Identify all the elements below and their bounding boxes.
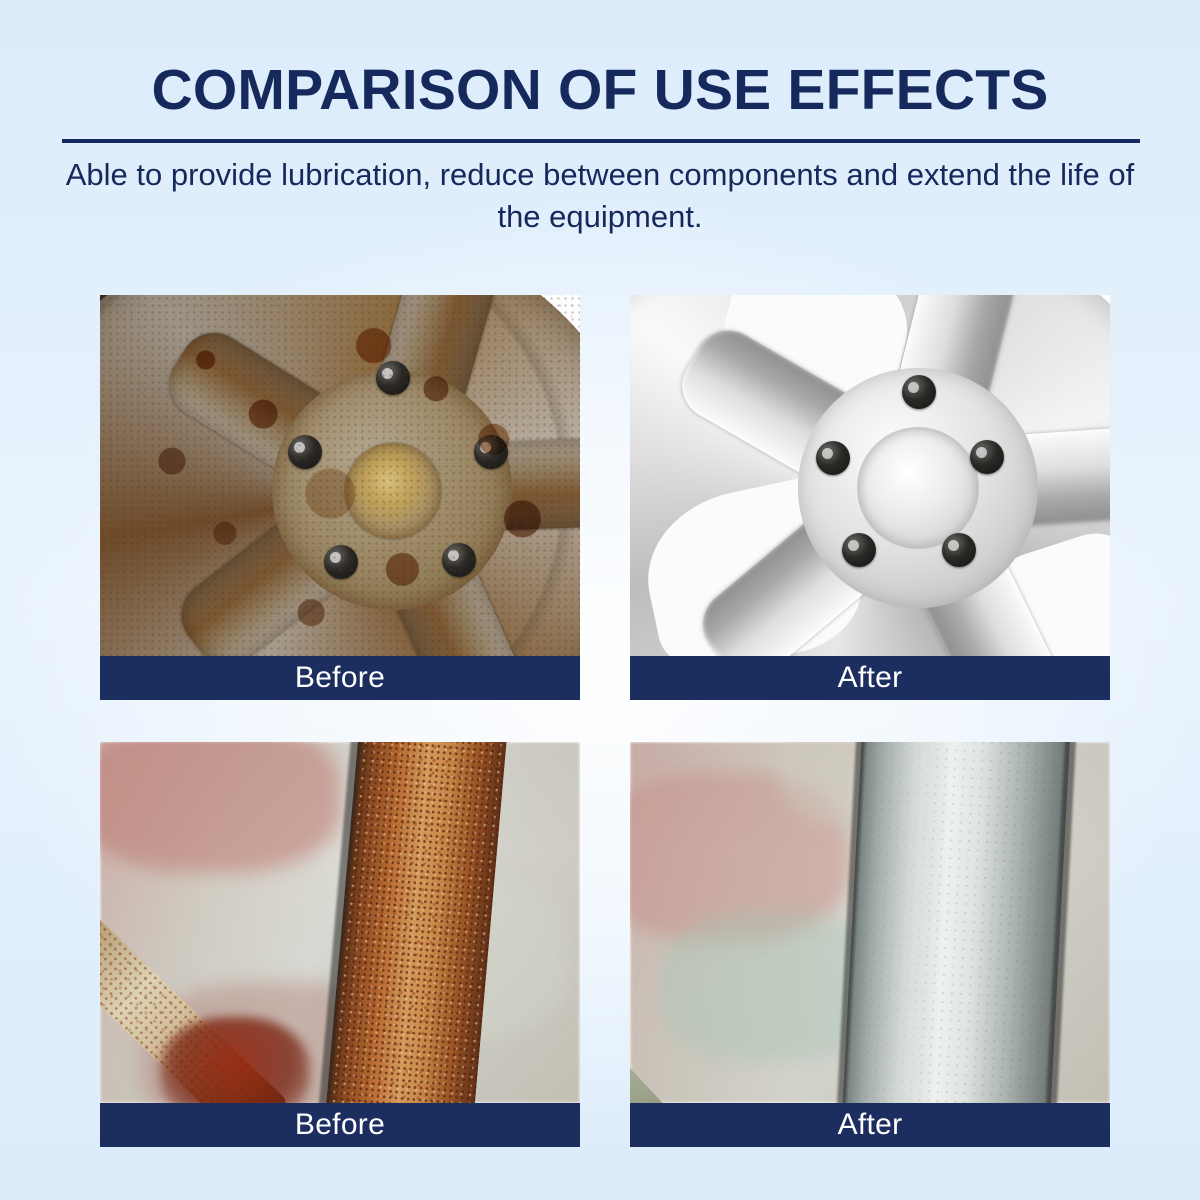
comparison-grid: Before (100, 295, 1110, 1147)
wheel-lug-nut (842, 533, 876, 567)
wheel-lug-nut (816, 441, 850, 475)
comparison-card-wheel-after: After (630, 295, 1110, 700)
photo-clean-pipe (630, 742, 1110, 1103)
photo-clean-wheel (630, 295, 1110, 656)
wheel-lug-nut (942, 533, 976, 567)
wheel-lug-nut (324, 545, 358, 579)
caption-after: After (630, 656, 1110, 700)
wheel-lug-nut (970, 440, 1004, 474)
wheel-illustration-rusty (100, 295, 580, 656)
floor-stain (100, 742, 340, 872)
comparison-card-wheel-before: Before (100, 295, 580, 700)
caption-before: Before (100, 656, 580, 700)
page-title: COMPARISON OF USE EFFECTS (0, 58, 1200, 122)
title-divider-rule (62, 139, 1140, 143)
page-header: COMPARISON OF USE EFFECTS Able to provid… (0, 58, 1200, 122)
promo-page: COMPARISON OF USE EFFECTS Able to provid… (0, 0, 1200, 1200)
wheel-lug-nut (288, 435, 322, 469)
caption-after: After (630, 1103, 1110, 1147)
photo-rusty-pipe (100, 742, 580, 1103)
page-subtitle: Able to provide lubrication, reduce betw… (50, 154, 1150, 238)
wheel-lug-nut (474, 435, 508, 469)
pipe-illustration-rusty (100, 742, 580, 1103)
clean-pipe-main (841, 742, 1071, 1103)
wheel-lug-nut (902, 375, 936, 409)
wheel-lug-nut (376, 361, 410, 395)
photo-rusty-wheel (100, 295, 580, 656)
wheel-center-cap (345, 443, 441, 539)
pipe-illustration-clean (630, 742, 1110, 1103)
rust-patch (160, 1017, 310, 1103)
comparison-card-pipe-before: Before (100, 742, 580, 1147)
comparison-card-pipe-after: After (630, 742, 1110, 1147)
caption-before: Before (100, 1103, 580, 1147)
wheel-lug-nut (442, 543, 476, 577)
wheel-illustration-clean (630, 295, 1110, 656)
wheel-center-cap (860, 430, 976, 546)
